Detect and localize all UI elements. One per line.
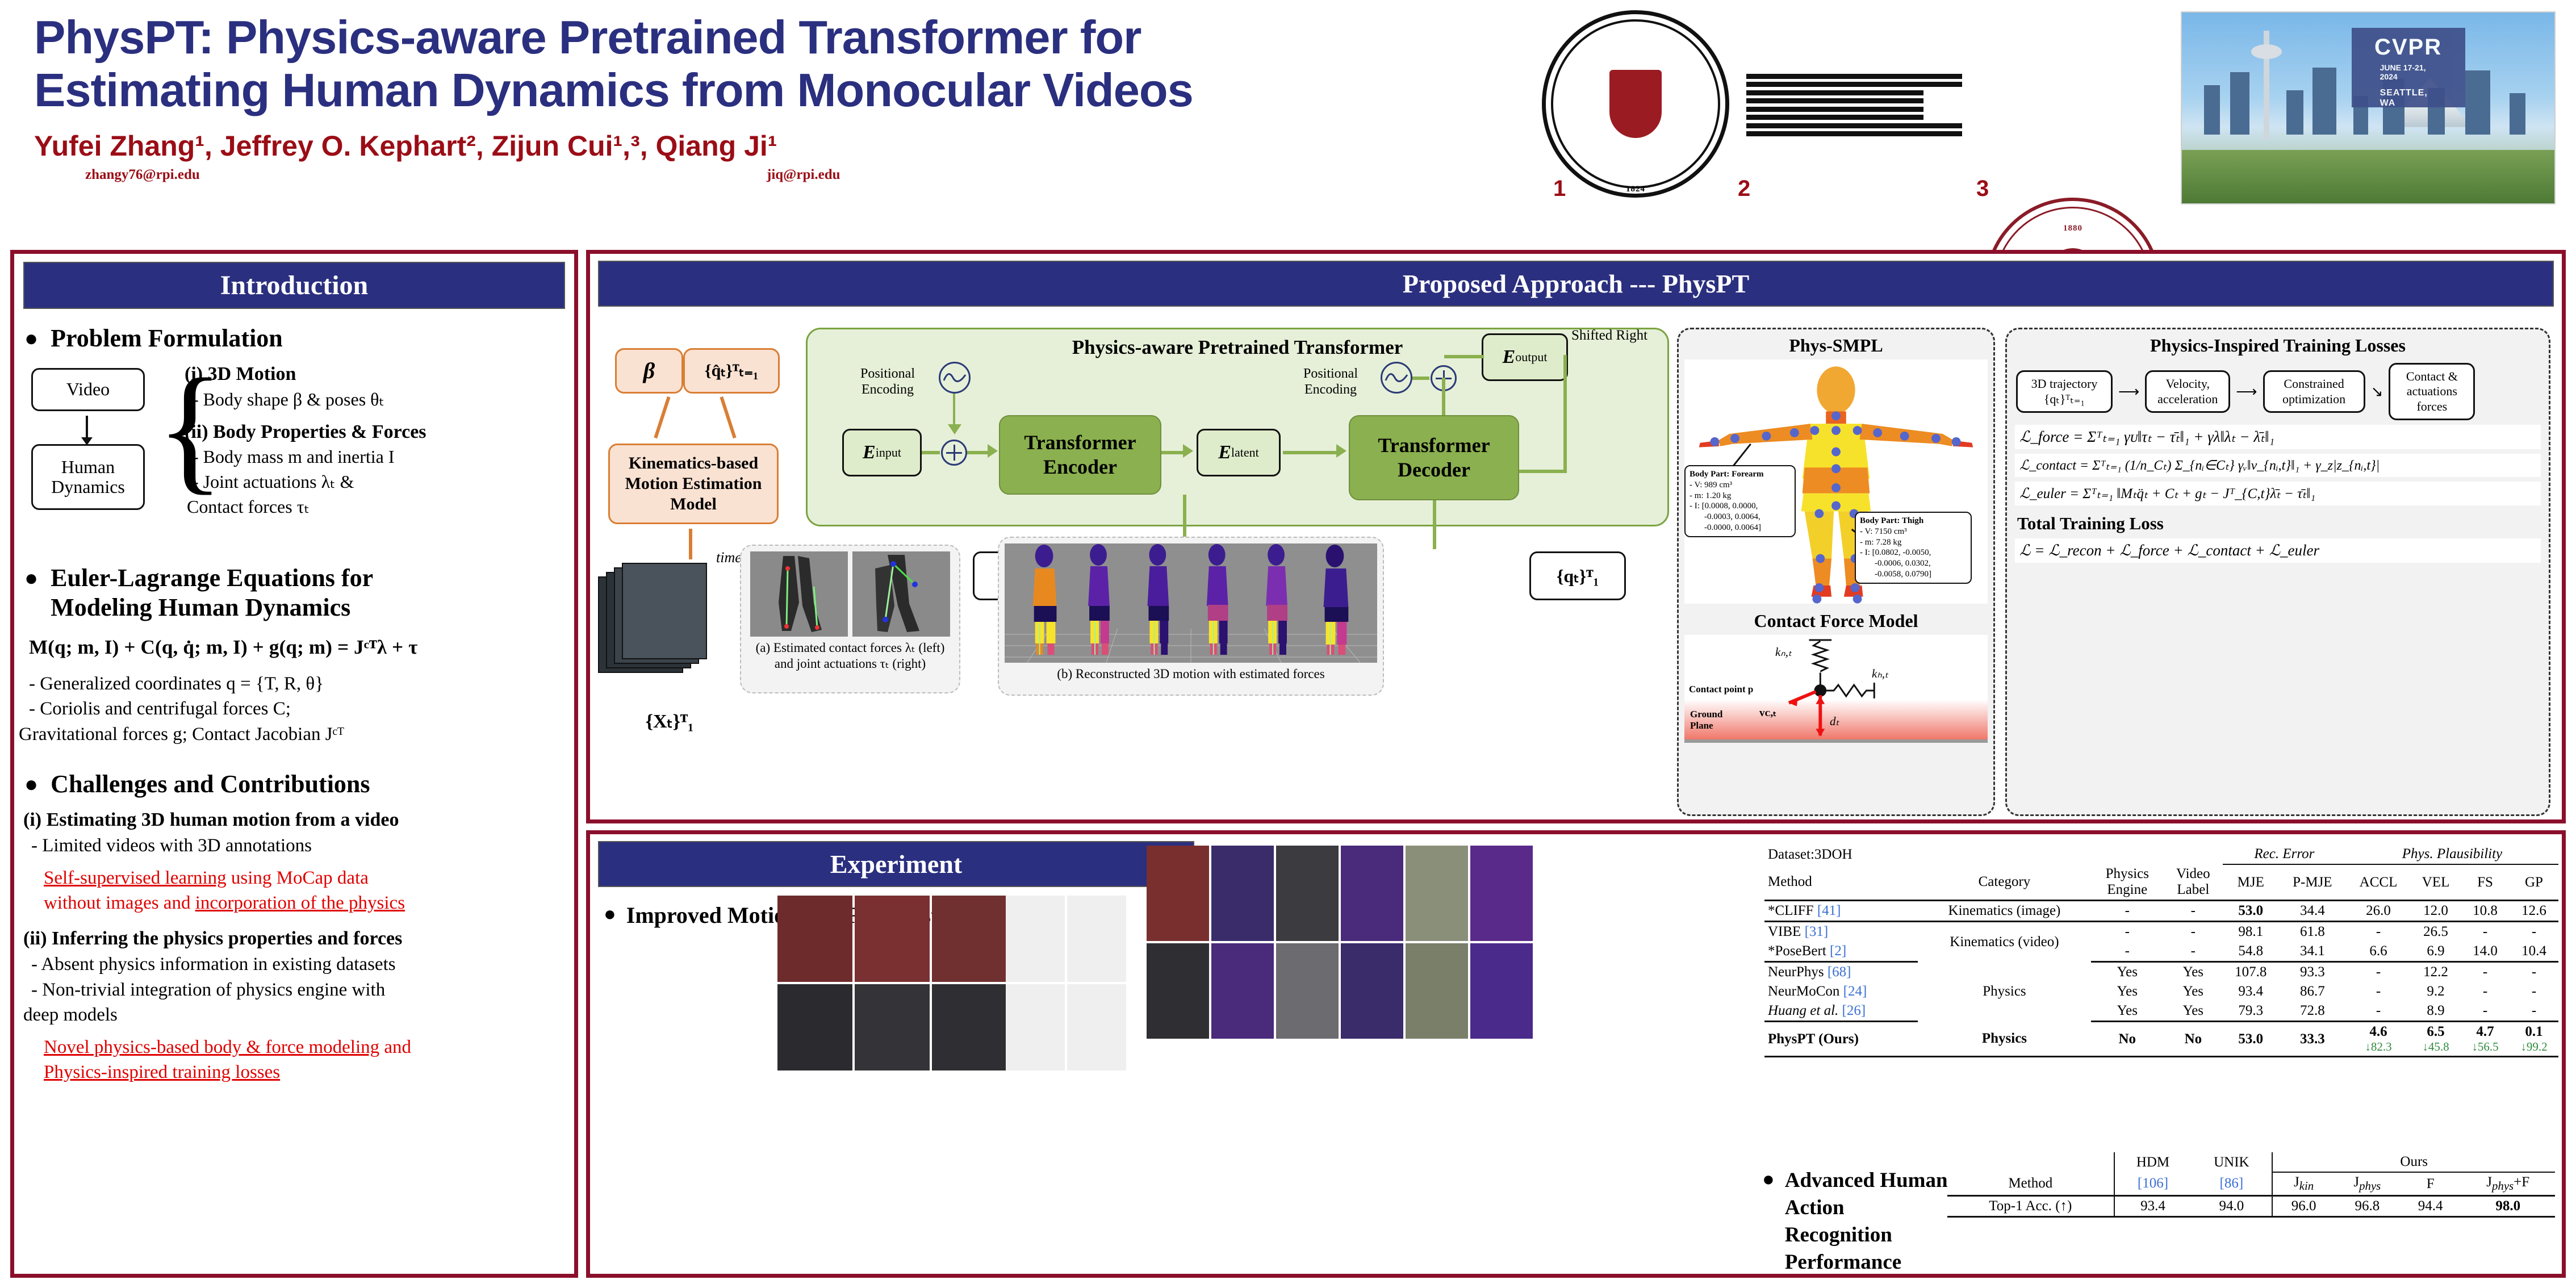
- contribution-1-line2: without images and incorporation of the …: [44, 890, 574, 915]
- intro-bullet-euler-lagrange: ● Euler-Lagrange Equations for Modeling …: [24, 563, 574, 622]
- row-vel: 8.9: [2411, 1001, 2461, 1022]
- affiliation-marker-3: 3: [1976, 176, 1989, 202]
- connector-frames-to-model: [689, 529, 692, 559]
- act-v2: 96.0: [2272, 1196, 2334, 1217]
- hdm-cite: [106]: [2114, 1172, 2192, 1196]
- unik-cite: [86]: [2191, 1172, 2272, 1196]
- act-v5: 98.0: [2461, 1196, 2555, 1217]
- intro-bullet-challenges: ● Challenges and Contributions: [24, 770, 574, 799]
- introduction-title: Introduction: [23, 262, 565, 309]
- approach-title: Proposed Approach --- PhysPT: [598, 261, 2554, 307]
- row-mje: 93.4: [2223, 982, 2279, 1001]
- row-engine: -: [2091, 922, 2164, 942]
- email-author2: jiq@rpi.edu: [767, 167, 840, 183]
- row-engine: Yes: [2091, 1001, 2164, 1022]
- row-accl: 26.0: [2346, 901, 2411, 922]
- challenge-2-detail-2: - Non-trivial integration of physics eng…: [31, 977, 574, 1003]
- row-mje: 98.1: [2223, 922, 2279, 942]
- challenge-2-heading: (ii) Inferring the physics properties an…: [23, 928, 574, 950]
- mocap-text: using MoCap data: [227, 868, 369, 888]
- col-mje: MJE: [2223, 864, 2279, 901]
- table-row: *PoseBert [2] - - 54.8 34.1 6.6 6.9 14.0…: [1764, 942, 2558, 962]
- connector-encoder-latent: [1161, 451, 1184, 454]
- without-images-text: without images and: [44, 893, 195, 913]
- down-arrow-icon: [86, 416, 88, 441]
- phys-smpl-title: Phys-SMPL: [1679, 335, 1993, 356]
- row-gp: 0.1 ↓99.2: [2510, 1022, 2558, 1057]
- row-mje: 107.8: [2223, 962, 2279, 982]
- row-fs: -: [2461, 922, 2510, 942]
- act-col-jphysf: Jphys+F: [2461, 1172, 2555, 1196]
- row-pmje: 86.7: [2279, 982, 2346, 1001]
- arrow-right-icon-3: [1336, 444, 1346, 458]
- human-dynamics-box: Human Dynamics: [31, 444, 145, 510]
- table-row: NeurPhys [68] Physics Yes Yes 107.8 93.3…: [1764, 962, 2558, 982]
- row-fs: -: [2461, 962, 2510, 982]
- thigh-head: Body Part: Thigh: [1860, 516, 1967, 526]
- forearm-inertia-1: - I: [0.0008, 0.0000,: [1690, 501, 1791, 512]
- reconstructed-motion-render: [1005, 543, 1377, 663]
- act-v3: 96.8: [2335, 1196, 2400, 1217]
- training-losses-card: Physics-Inspired Training Losses 3D traj…: [2005, 328, 2550, 816]
- total-loss-heading: Total Training Loss: [2017, 513, 2549, 534]
- arrow-right-icon-f2: ⟶: [2236, 383, 2257, 400]
- challenge-1-detail: - Limited videos with 3D annotations: [31, 833, 574, 859]
- row-method: NeurPhys [68]: [1764, 962, 1918, 982]
- e-input-box: Einput: [842, 429, 922, 476]
- poster-header: PhysPT: Physics-aware Pretrained Transfo…: [0, 0, 2576, 239]
- euler-lagrange-equation: M(q; m, I) + C(q, q̇; m, I) + g(q; m) = …: [29, 636, 574, 659]
- hdm-group: HDM: [2114, 1152, 2192, 1172]
- contact-actuations-box: Contact & actuations forces: [2389, 363, 2475, 420]
- experiment-bullet-2: ● Advanced Human Action Recognition Perf…: [1762, 1167, 1950, 1276]
- col-category: Category: [1918, 864, 2090, 901]
- velocity-label: vᴄ,ₜ: [1759, 706, 1776, 720]
- row-pmje: 33.3: [2279, 1022, 2346, 1057]
- row-accl: -: [2346, 962, 2411, 982]
- loss-force-equation: ℒ_force = Σᵀₜ₌₁ γᴜ‖τₜ − τ̄ₜ‖₁ + γλ‖λₜ − …: [2015, 425, 2541, 449]
- cvpr-name: CVPR: [2374, 35, 2442, 60]
- row-label: No: [2164, 1022, 2223, 1057]
- arrow-curve-icon: ↘: [2371, 383, 2383, 400]
- challenge-2-detail-1: - Absent physics information in existing…: [31, 952, 574, 977]
- bullet-dot-icon: ●: [604, 902, 616, 929]
- human-label: Human: [61, 457, 115, 477]
- citation: [2]: [1830, 943, 1846, 959]
- connector-model-to-qhat: [720, 396, 736, 438]
- forearm-volume: - V: 989 cm³: [1690, 480, 1791, 491]
- row-category: Physics: [1918, 1022, 2090, 1057]
- challenge-2-detail-3: deep models: [23, 1002, 574, 1028]
- citation: [24]: [1843, 984, 1867, 999]
- action-recognition-line2: Action Recognition: [1785, 1196, 1892, 1247]
- e-output-subscript: output: [1515, 350, 1547, 365]
- thigh-inertia-1: - I: [0.0802, -0.0050,: [1860, 547, 1967, 558]
- arrow-down-icon-1: [948, 424, 961, 434]
- delta-vel: ↓45.8: [2414, 1040, 2457, 1054]
- delta-gp: ↓99.2: [2513, 1040, 2555, 1054]
- connector-decoder-feedback-h: [1519, 470, 1567, 473]
- forces-detail-3: Contact forces τₜ: [187, 496, 571, 517]
- figure-b-card: (b) Reconstructed 3D motion with estimat…: [998, 537, 1384, 696]
- forearm-info-tag: Body Part: Forearm - V: 989 cm³ - m: 1.2…: [1684, 465, 1796, 537]
- qualitative-gallery-left: [777, 896, 1007, 1070]
- row-label: Yes: [2164, 1001, 2223, 1022]
- row-mje: 54.8: [2223, 942, 2279, 962]
- act-row: Top-1 Acc. (↑) 93.4 94.0 96.0 96.8 94.4 …: [1947, 1196, 2555, 1217]
- forearm-inertia-3: -0.0000, 0.0064]: [1704, 522, 1791, 533]
- row-gp: 10.4: [2510, 942, 2558, 962]
- connector-model-to-beta: [654, 396, 670, 438]
- row-mje: 53.0: [2223, 901, 2279, 922]
- e-output-box: Eoutput: [1482, 333, 1568, 381]
- row-engine: No: [2091, 1022, 2164, 1057]
- act-col-f: F: [2400, 1172, 2461, 1196]
- table-header-columns: Method Category PhysicsEngine VideoLabel…: [1764, 864, 2558, 901]
- joint-actuation-render: [852, 551, 950, 637]
- physics-losses-emph: Physics-inspired training losses: [44, 1062, 280, 1082]
- generalized-coordinates: - Generalized coordinates q = {T, R, θ}: [29, 671, 574, 697]
- cvpr-banner-image: CVPR JUNE 17-21, 2024 SEATTLE, WA: [2181, 11, 2556, 204]
- row-engine: Yes: [2091, 982, 2164, 1001]
- thigh-inertia-3: -0.0058, 0.0790]: [1875, 569, 1967, 580]
- bullet-dot-icon: ●: [24, 773, 38, 799]
- affiliation-marker-2: 2: [1738, 176, 1750, 202]
- contribution-2-line1: Novel physics-based body & force modelin…: [44, 1035, 574, 1060]
- row-category: Kinematics (video): [1918, 922, 2090, 962]
- row-gp: -: [2510, 1001, 2558, 1022]
- challenge-1-heading: (i) Estimating 3D human motion from a vi…: [23, 809, 574, 831]
- forearm-head: Body Part: Forearm: [1690, 469, 1791, 480]
- row-fs: 14.0: [2461, 942, 2510, 962]
- row-method: *CLIFF [41]: [1764, 901, 1918, 922]
- results-table-3doh: Dataset:3DOH Rec. Error Phys. Plausibili…: [1764, 844, 2558, 1057]
- cvpr-logo-badge: CVPR JUNE 17-21, 2024 SEATTLE, WA: [2352, 28, 2465, 107]
- row-vel: 6.5 ↓45.8: [2411, 1022, 2461, 1057]
- act-v1: 94.0: [2191, 1196, 2272, 1217]
- row-label: -: [2164, 942, 2223, 962]
- losses-title: Physics-Inspired Training Losses: [2007, 335, 2549, 356]
- contribution-2-line2: Physics-inspired training losses: [44, 1060, 574, 1085]
- row-gp: -: [2510, 962, 2558, 982]
- challenges-heading: Challenges and Contributions: [51, 770, 370, 799]
- col-pmje: P-MJE: [2279, 864, 2346, 901]
- col-method: Method: [1764, 864, 1918, 901]
- act-header-groups: HDM UNIK Ours: [1947, 1152, 2555, 1172]
- forces-heading: (ii) Body Properties & Forces: [185, 421, 571, 443]
- table-row: *CLIFF [41] Kinematics (image) - - 53.0 …: [1764, 901, 2558, 922]
- thigh-volume: - V: 7150 cm³: [1860, 526, 1967, 537]
- dataset-label: Dataset:3DOH: [1764, 844, 1918, 864]
- row-label: Yes: [2164, 962, 2223, 982]
- row-method: PhysPT (Ours): [1764, 1022, 1918, 1057]
- act-v4: 94.4: [2400, 1196, 2461, 1217]
- e-input-symbol: E: [863, 442, 876, 463]
- citation: [31]: [1805, 924, 1829, 939]
- e-latent-subscript: latent: [1231, 445, 1259, 460]
- intro-bullet-problem-formulation: ● Problem Formulation: [24, 324, 574, 353]
- row-gp: -: [2510, 982, 2558, 1001]
- figure-a-card: (a) Estimated contact forces λₜ (left) a…: [740, 545, 960, 693]
- row-label: Yes: [2164, 982, 2223, 1001]
- loss-euler-equation: ℒ_euler = Σᵀₜ₌₁ ‖Mₜq̈ₜ + Cₜ + gₜ − Jᵀ_{C…: [2015, 482, 2541, 505]
- plus-circle-icon-1: [941, 440, 967, 466]
- row-pmje: 61.8: [2279, 922, 2346, 942]
- row-fs: 10.8: [2461, 901, 2510, 922]
- losses-flow-row: 3D trajectory {qₜ}ᵀₜ₌₁ ⟶ Velocity, accel…: [2016, 363, 2540, 420]
- ground-plane-label: Ground Plane: [1690, 709, 1741, 732]
- action-recognition-line3: Performance: [1785, 1251, 1901, 1274]
- forearm-inertia-2: -0.0003, 0.0064,: [1704, 512, 1791, 522]
- row-vel: 6.9: [2411, 942, 2461, 962]
- table-row-ours: PhysPT (Ours) Physics No No 53.0 33.3 4.…: [1764, 1022, 2558, 1057]
- figure-a-caption: (a) Estimated contact forces λₜ (left) a…: [747, 640, 954, 671]
- novel-modeling-emph: Novel physics-based body & force modelin…: [44, 1037, 379, 1057]
- thigh-mass: - m: 7.28 kg: [1860, 537, 1967, 548]
- proposed-approach-panel: Proposed Approach --- PhysPT time {Xₜ}ᵀ₁…: [586, 250, 2566, 823]
- row-vel: 9.2: [2411, 982, 2461, 1001]
- positional-encoding-label-1: Positional Encoding: [842, 366, 933, 398]
- sine-wave-icon-2: [1381, 362, 1412, 394]
- row-engine: -: [2091, 901, 2164, 922]
- arrow-right-icon-2: [1183, 444, 1193, 458]
- transformer-decoder-box: Transformer Decoder: [1349, 415, 1519, 500]
- penetration-depth-label: dₜ: [1830, 714, 1839, 729]
- figure-b-caption: (b) Reconstructed 3D motion with estimat…: [1005, 666, 1377, 682]
- col-vel: VEL: [2411, 864, 2461, 901]
- row-pmje: 72.8: [2279, 1001, 2346, 1022]
- qualitative-gallery-right: [1147, 846, 1533, 1039]
- row-gp: -: [2510, 922, 2558, 942]
- trajectory-box: 3D trajectory {qₜ}ᵀₜ₌₁: [2016, 370, 2113, 413]
- row-vel: 12.2: [2411, 962, 2461, 982]
- act-col-method: Method: [1947, 1172, 2114, 1196]
- e-latent-box: Elatent: [1197, 429, 1281, 476]
- page-title-line1: PhysPT: Physics-aware Pretrained Transfo…: [34, 11, 1522, 64]
- contact-point-label: Contact point p: [1689, 684, 1753, 695]
- row-vel: 12.0: [2411, 901, 2461, 922]
- beta-box: β: [615, 348, 683, 394]
- connector-pe-1: [953, 394, 955, 426]
- experiment-title: Experiment: [598, 841, 1194, 887]
- row-accl: 6.6: [2346, 942, 2411, 962]
- euler-heading-line1: Euler-Lagrange Equations for: [51, 564, 373, 592]
- video-box: Video: [31, 368, 145, 411]
- forces-detail-2: - Joint actuations λₜ &: [193, 471, 571, 492]
- row-pmje: 93.3: [2279, 962, 2346, 982]
- bullet-dot-icon: ●: [24, 327, 38, 353]
- connector-decoder-feedback-v: [1563, 355, 1567, 472]
- delta-accl: ↓82.3: [2349, 1040, 2407, 1054]
- space-needle-icon: [2264, 31, 2269, 139]
- introduction-panel: Introduction ● Problem Formulation Video…: [10, 250, 578, 1278]
- bullet-dot-icon: ●: [1762, 1167, 1775, 1276]
- optimization-box: Constrained optimization: [2263, 370, 2365, 413]
- dynamics-label: Dynamics: [51, 477, 125, 497]
- row-engine: -: [2091, 942, 2164, 962]
- row-accl: 4.6 ↓82.3: [2346, 1022, 2411, 1057]
- loss-contact-equation: ℒ_contact = Σᵀₜ₌₁ (1/n_Cₜ) Σ_{nᵢ∈Cₜ} γᵥ‖…: [2015, 454, 2541, 477]
- kh-label: kₕ,ₜ: [1872, 667, 1888, 681]
- row-method: VIBE [31]: [1764, 922, 1918, 942]
- video-to-dynamics-flow: Video Human Dynamics { (i) 3D Motion - B…: [31, 363, 574, 511]
- row-category: Kinematics (image): [1918, 901, 2090, 922]
- connector-eoutput-oplus: [1444, 355, 1484, 358]
- time-label: time: [716, 549, 742, 566]
- motion-heading: (i) 3D Motion: [185, 363, 571, 385]
- col-gp: GP: [2510, 864, 2558, 901]
- bullet-dot-icon: ●: [24, 567, 38, 622]
- act-col-jphys: Jphys: [2335, 1172, 2400, 1196]
- rpi-logo: 1824: [1542, 10, 1729, 198]
- table-row: VIBE [31] Kinematics (video) - - 98.1 61…: [1764, 922, 2558, 942]
- experiment-panel: Experiment ● Improved Motion and Force E…: [586, 830, 2566, 1278]
- kn-label: kₙ,ₜ: [1775, 645, 1792, 659]
- self-supervised-learning-emph: Self-supervised learning: [44, 868, 227, 888]
- gravitational-forces: Gravitational forces g; Contact Jacobian…: [19, 722, 574, 747]
- row-pmje: 34.4: [2279, 901, 2346, 922]
- ours-group: Ours: [2272, 1152, 2555, 1172]
- e-output-symbol: E: [1503, 346, 1516, 368]
- row-vel: 26.5: [2411, 922, 2461, 942]
- connector-oplus-encoder: [967, 451, 989, 454]
- row-gp: 12.6: [2510, 901, 2558, 922]
- citation: [26]: [1842, 1003, 1866, 1018]
- row-engine: Yes: [2091, 962, 2164, 982]
- thigh-info-tag: Body Part: Thigh - V: 7150 cm³ - m: 7.28…: [1855, 512, 1972, 584]
- row-method: *PoseBert [2]: [1764, 942, 1918, 962]
- table-header-groups: Dataset:3DOH Rec. Error Phys. Plausibili…: [1764, 844, 2558, 864]
- delta-fs: ↓56.5: [2464, 1040, 2506, 1054]
- euler-heading-line2: Modeling Human Dynamics: [51, 593, 350, 621]
- e-latent-symbol: E: [1218, 442, 1231, 463]
- and-text: and: [379, 1037, 411, 1057]
- contact-force-model-title: Contact Force Model: [1679, 610, 1993, 632]
- input-video-frames: [598, 562, 740, 692]
- positional-encoding-label-2: Positional Encoding: [1285, 366, 1376, 398]
- thigh-inertia-2: -0.0006, 0.0302,: [1875, 558, 1967, 569]
- row-label: -: [2164, 901, 2223, 922]
- action-recognition-line1: Advanced Human: [1785, 1169, 1948, 1192]
- row-method: NeurMoCon [24]: [1764, 982, 1918, 1001]
- phys-smpl-card: Phys-SMPL: [1677, 328, 1995, 816]
- act-col-jkin: Jkin: [2272, 1172, 2334, 1196]
- row-fs: 4.7 ↓56.5: [2461, 1022, 2510, 1057]
- col-label: VideoLabel: [2164, 864, 2223, 901]
- e-input-subscript: input: [876, 445, 901, 460]
- rpi-seal-year: 1824: [1542, 10, 1729, 198]
- input-sequence-label: {Xₜ}ᵀ₁: [618, 704, 721, 739]
- row-method: Huang et al. [26]: [1764, 1001, 1918, 1022]
- qhat-box: {q̂ₜ}ᵀₜ₌₁: [683, 348, 780, 394]
- col-fs: FS: [2461, 864, 2510, 901]
- col-engine: PhysicsEngine: [2091, 864, 2164, 901]
- group-rec-error: Rec. Error: [2223, 844, 2346, 864]
- ibm-logo: [1746, 74, 1962, 136]
- email-author1: zhangy76@rpi.edu: [85, 167, 200, 183]
- row-fs: -: [2461, 1001, 2510, 1022]
- act-row-label: Top-1 Acc. (↑): [1947, 1196, 2114, 1217]
- sine-wave-icon-1: [939, 362, 971, 394]
- row-accl: -: [2346, 982, 2411, 1001]
- shifted-right-label: Shifted Right: [1571, 328, 1647, 344]
- arrow-right-icon-f1: ⟶: [2118, 383, 2139, 400]
- qualitative-gallery-mesh: [1006, 896, 1126, 1070]
- row-category: Physics: [1918, 962, 2090, 1022]
- incorporation-physics-emph: incorporation of the physics: [195, 893, 405, 913]
- problem-formulation-heading: Problem Formulation: [51, 324, 283, 353]
- citation: [68]: [1828, 964, 1851, 980]
- qt-box: {qₜ}ᵀ₁: [1529, 551, 1626, 600]
- kinematics-model-box: Kinematics-based Motion Estimation Model: [608, 444, 779, 524]
- connector-decoder-outputs: [1433, 500, 1436, 549]
- row-accl: -: [2346, 1001, 2411, 1022]
- total-loss-equation: ℒ = ℒ_recon + ℒ_force + ℒ_contact + ℒ_eu…: [2015, 538, 2541, 563]
- row-mje: 79.3: [2223, 1001, 2279, 1022]
- row-pmje: 34.1: [2279, 942, 2346, 962]
- contact-force-render: [750, 551, 848, 637]
- act-header-cols: Method [106] [86] Jkin Jphys F Jphys+F: [1947, 1172, 2555, 1196]
- author-list: Yufei Zhang¹, Jeffrey O. Kephart², Zijun…: [34, 129, 1522, 162]
- motion-detail: - Body shape β & poses θₜ: [193, 388, 571, 410]
- cvpr-date: JUNE 17-21, 2024: [2380, 63, 2437, 81]
- forearm-mass: - m: 1.20 kg: [1690, 491, 1791, 501]
- act-v0: 93.4: [2114, 1196, 2192, 1217]
- col-accl: ACCL: [2346, 864, 2411, 901]
- row-accl: -: [2346, 922, 2411, 942]
- contact-force-model-figure: kₙ,ₜ kₕ,ₜ Contact point p vᴄ,ₜ dₜ Ground…: [1684, 635, 1988, 743]
- page-title-line2: Estimating Human Dynamics from Monocular…: [34, 64, 1522, 117]
- group-phys-plaus: Phys. Plausibility: [2346, 844, 2558, 864]
- arrow-right-icon-1: [988, 444, 998, 458]
- cvpr-city: SEATTLE, WA: [2380, 88, 2437, 108]
- table-row: NeurMoCon [24] Yes Yes 93.4 86.7 - 9.2 -…: [1764, 982, 2558, 1001]
- citation: [41]: [1817, 903, 1841, 918]
- connector-pe-2: [1412, 377, 1429, 380]
- row-mje: 53.0: [2223, 1022, 2279, 1057]
- connector-latent-decoder: [1283, 451, 1337, 454]
- row-label: -: [2164, 922, 2223, 942]
- connector-einput-oplus: [922, 451, 940, 454]
- velocity-box: Velocity, acceleration: [2145, 370, 2230, 413]
- transformer-encoder-box: Transformer Encoder: [999, 415, 1161, 495]
- coriolis-forces: - Coriolis and centrifugal forces C;: [29, 696, 574, 722]
- smpl-body-figure: Body Part: Forearm - V: 989 cm³ - m: 1.2…: [1684, 359, 1988, 604]
- forces-detail-1: - Body mass m and inertia I: [193, 446, 571, 467]
- contribution-1-line1: Self-supervised learning using MoCap dat…: [44, 865, 574, 890]
- unik-group: UNIK: [2191, 1152, 2272, 1172]
- table-row: Huang et al. [26] Yes Yes 79.3 72.8 - 8.…: [1764, 1001, 2558, 1022]
- row-fs: -: [2461, 982, 2510, 1001]
- action-recognition-table: HDM UNIK Ours Method [106] [86] Jkin Jph…: [1947, 1152, 2555, 1218]
- affiliation-marker-1: 1: [1553, 176, 1566, 202]
- title-block: PhysPT: Physics-aware Pretrained Transfo…: [34, 11, 1522, 187]
- architecture-diagram: time {Xₜ}ᵀ₁ Kinematics-based Motion Esti…: [598, 317, 2558, 817]
